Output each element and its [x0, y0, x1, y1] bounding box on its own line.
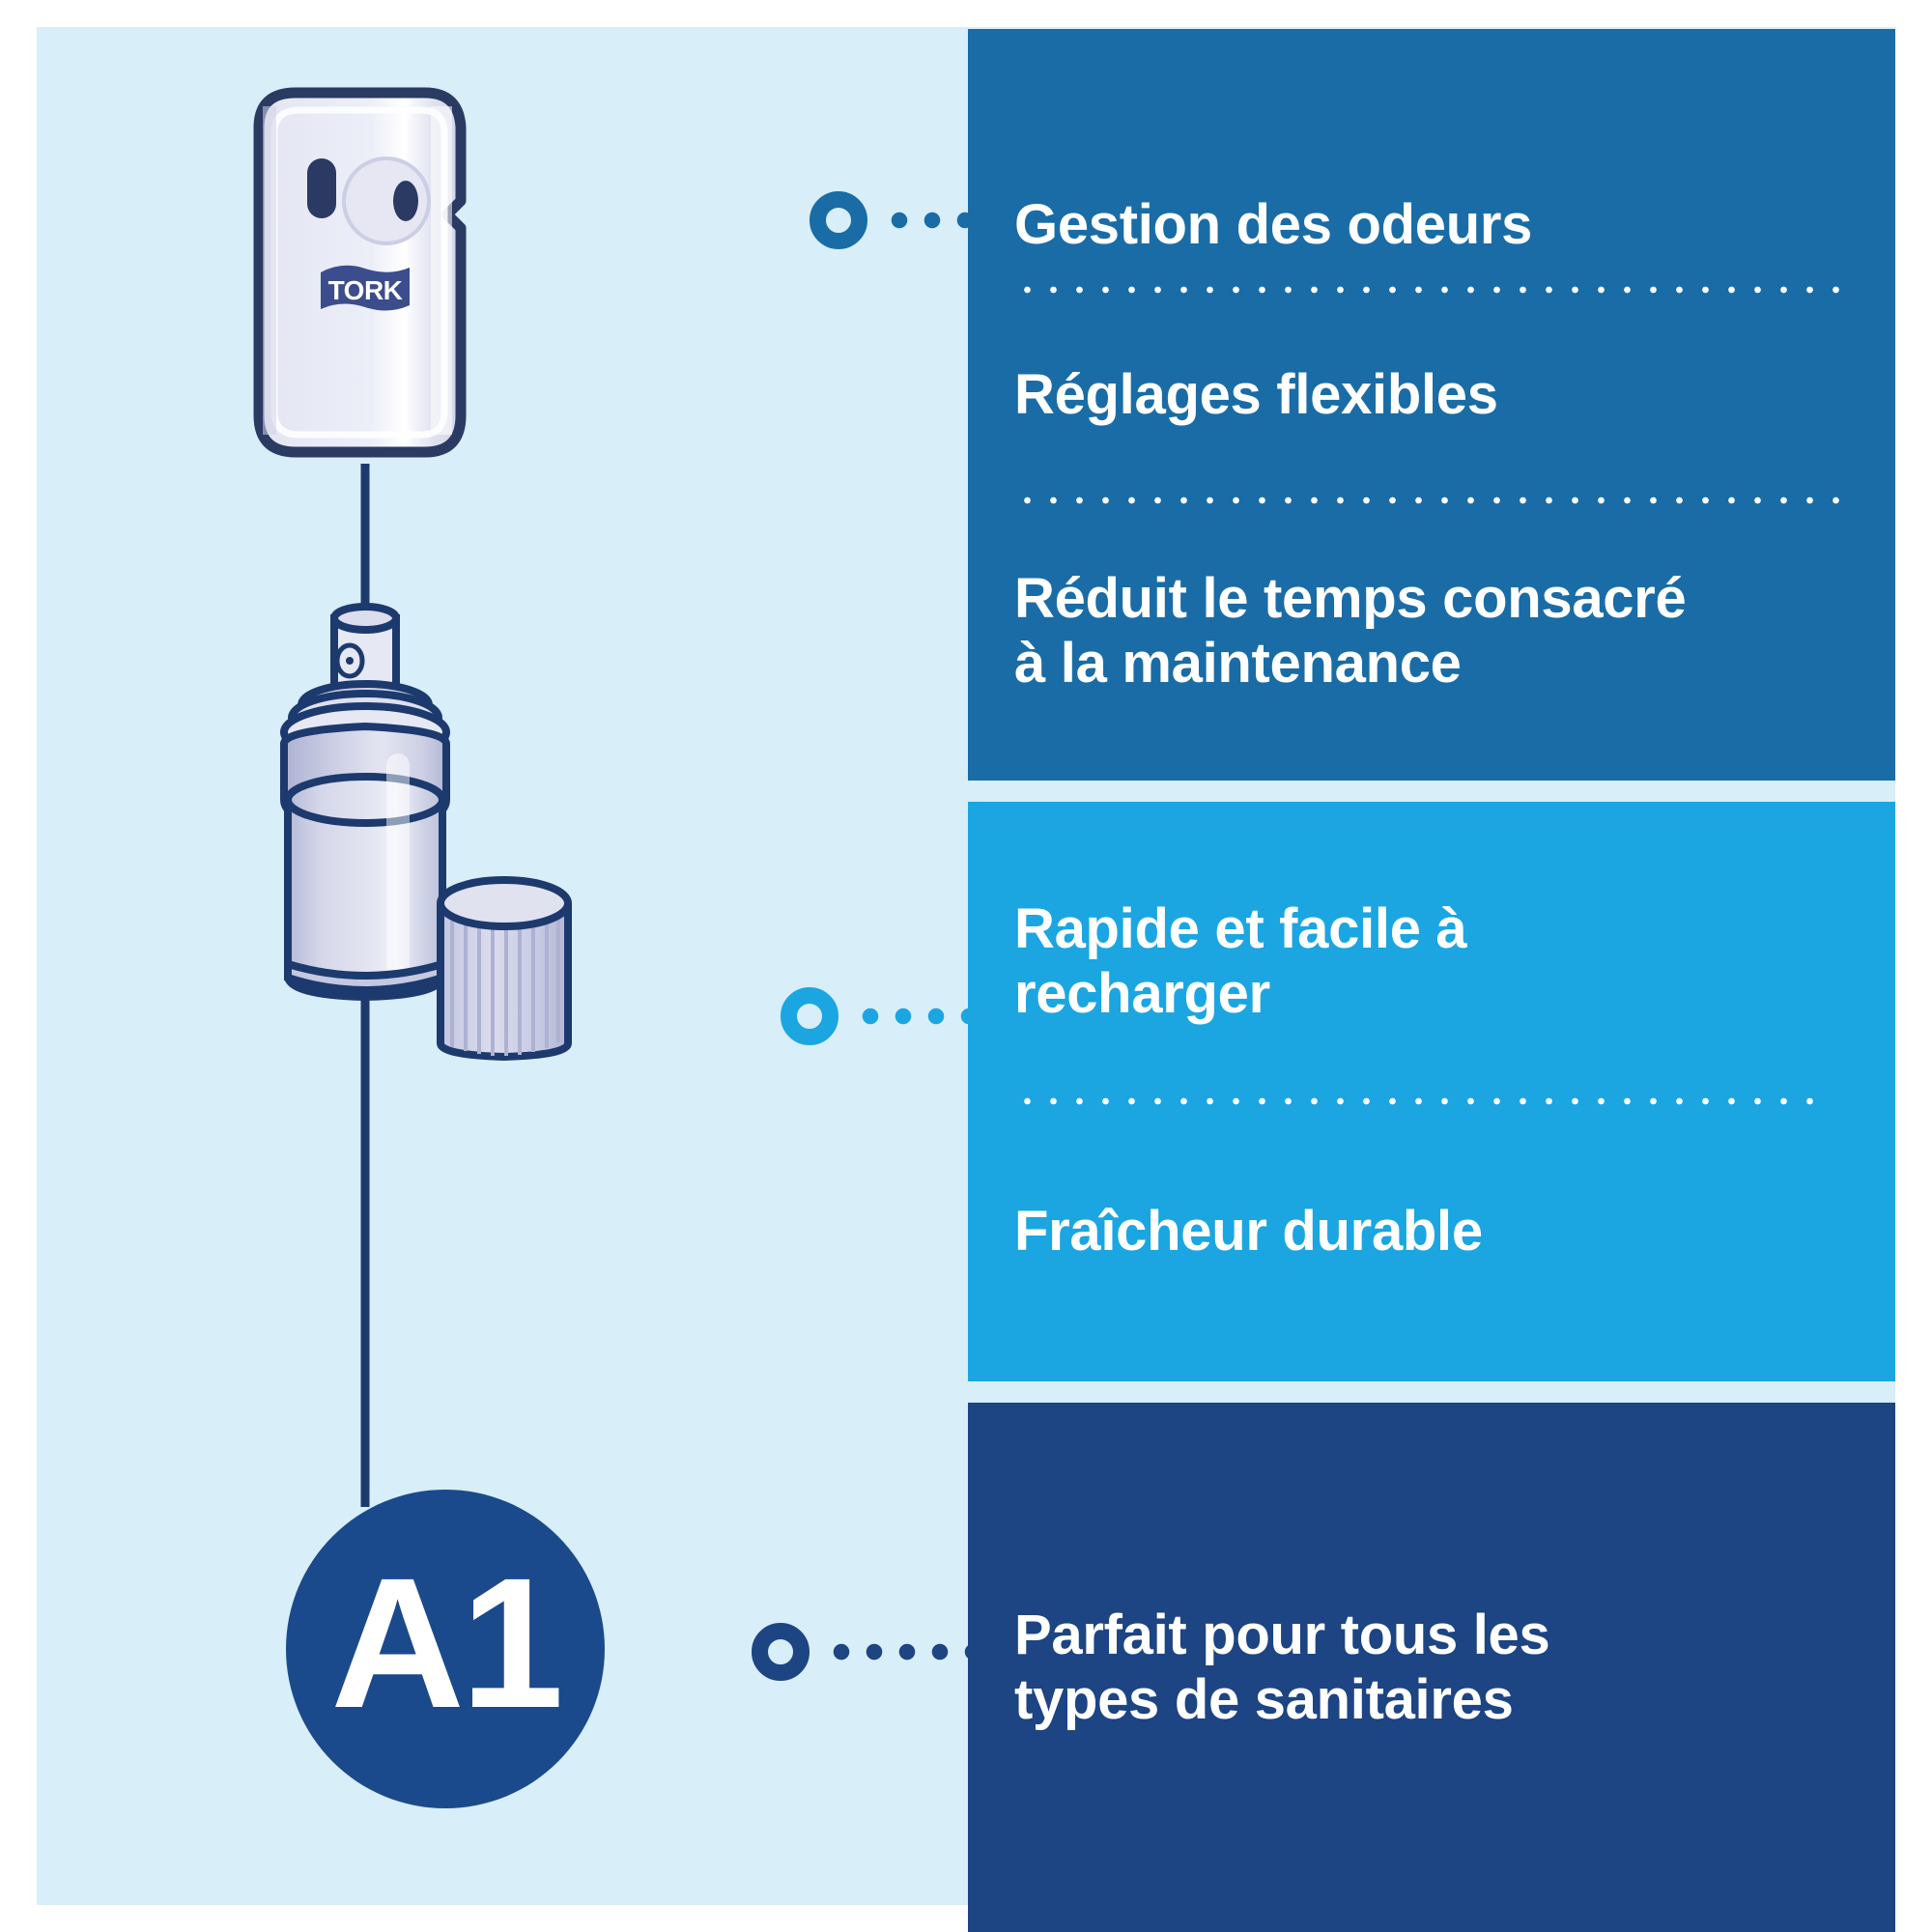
aerosol-can-illustration	[284, 607, 446, 997]
led-indicator-icon	[307, 158, 336, 218]
panel-divider-3	[1014, 1095, 1832, 1107]
panel-divider-2	[1014, 495, 1845, 506]
feature-text-long-lasting-freshness: Fraîcheur durable	[1014, 1199, 1483, 1264]
feature-text-reduced-maintenance: Réduit le temps consacré à la maintenanc…	[1014, 566, 1686, 696]
feature-text-quick-refill: Rapide et facile à recharger	[1014, 896, 1466, 1027]
svg-text:TORK: TORK	[328, 275, 403, 305]
feature-panel-bottom: Parfait pour tous les types de sanitaire…	[968, 1403, 1895, 1932]
feature-text-odour-management: Gestion des odeurs	[1014, 192, 1532, 257]
connector-ring-bottom-icon	[752, 1623, 810, 1681]
spray-port-icon	[393, 181, 418, 221]
connector-ring-middle-icon	[781, 987, 838, 1045]
feature-text-flexible-settings: Réglages flexibles	[1014, 362, 1498, 427]
feature-panel-top: Gestion des odeurs Réglages flexibles Ré…	[968, 29, 1895, 781]
feature-panel-middle: Rapide et facile à recharger Fraîcheur d…	[968, 802, 1895, 1381]
badge-a1-label: A1	[330, 1550, 559, 1736]
dispenser-illustration: TORK	[259, 93, 461, 452]
panel-divider-1	[1014, 284, 1845, 296]
badge-a1: A1	[286, 1490, 605, 1808]
tork-logo: TORK	[321, 266, 410, 311]
feature-text-all-washroom-types: Parfait pour tous les types de sanitaire…	[1014, 1603, 1549, 1733]
refill-cap-illustration	[440, 880, 568, 1057]
connector-ring-top-icon	[810, 191, 867, 249]
infographic-canvas: TORK	[0, 0, 1932, 1932]
